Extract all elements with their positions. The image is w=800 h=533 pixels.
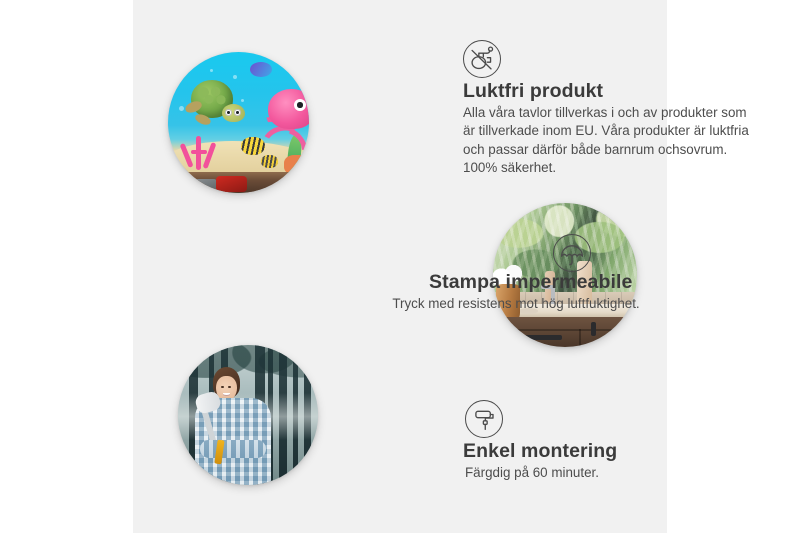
wooden-vanity xyxy=(502,317,637,347)
sea-turtle xyxy=(186,80,242,128)
floor-object-grey xyxy=(193,179,217,193)
floor-object-red xyxy=(216,176,247,192)
paint-roller-icon xyxy=(465,400,503,438)
striped-fish-small xyxy=(261,155,278,168)
woman-figure xyxy=(195,367,276,485)
feature-title: Enkel montering xyxy=(463,440,617,463)
feature-description: Alla våra tavlor tillverkas i och av pro… xyxy=(463,104,755,178)
screenshot-root: Luktfri produkt Alla våra tavlor tillver… xyxy=(0,0,800,533)
pink-octopus xyxy=(258,89,309,154)
umbrella-icon xyxy=(553,234,591,272)
feature-title: Luktfri produkt xyxy=(463,80,603,103)
feature-title: Stampa impermeabile xyxy=(429,271,632,294)
content-panel: Luktfri produkt Alla våra tavlor tillver… xyxy=(133,0,667,533)
no-scent-spray-bottle-icon xyxy=(463,40,501,78)
striped-fish-large xyxy=(241,137,265,155)
feature-description: Färgdig på 60 minuter. xyxy=(465,464,695,482)
underwater-cartoon-scene-disc xyxy=(168,52,309,193)
woman-with-paint-roller-forest-disc xyxy=(178,345,318,485)
underwater-scene-art xyxy=(168,52,309,193)
forest-portrait-art xyxy=(178,345,318,485)
feature-description: Tryck med resistens mot hög luftfuktighe… xyxy=(355,295,677,313)
pink-coral xyxy=(179,128,227,170)
